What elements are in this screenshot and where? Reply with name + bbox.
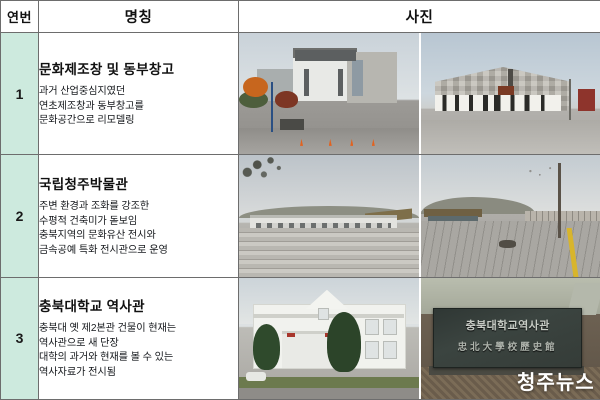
photo-museum-walkway	[421, 155, 600, 276]
document-page: 연번 명칭 사진 1 문화제조창 및 동부창고 과거 산업중심지였던 연초제조창…	[0, 0, 600, 400]
row-name-cell-1: 문화제조창 및 동부창고 과거 산업중심지였던 연초제조창과 동부창고를 문화공…	[39, 33, 239, 155]
window	[365, 341, 380, 359]
table-row: 1 문화제조창 및 동부창고 과거 산업중심지였던 연초제조창과 동부창고를 문…	[1, 33, 600, 155]
photo-cheongju-museum	[239, 155, 419, 276]
row-name-cell-2: 국립청주박물관 주변 환경과 조화를 강조한 수평적 건축미가 돋보임 충북지역…	[39, 155, 239, 277]
facility-table: 연번 명칭 사진 1 문화제조창 및 동부창고 과거 산업중심지였던 연초제조창…	[0, 0, 600, 400]
photo-pair-2	[239, 155, 600, 276]
red-side-structure	[578, 89, 594, 111]
window-strip	[352, 60, 363, 96]
plaza-ground	[421, 120, 600, 154]
light-pole	[271, 82, 273, 133]
stone-sign-plaque: 충북대학교역사관 忠北大學校歷史館	[433, 308, 582, 368]
facility-title-2: 국립청주박물관	[39, 177, 238, 193]
facility-desc-1: 과거 산업중심지였던 연초제조창과 동부창고를 문화공간으로 리모델링	[39, 85, 238, 128]
row-index-1: 1	[1, 33, 39, 155]
row-index-3: 3	[1, 277, 39, 399]
parked-car	[246, 372, 266, 380]
tree-branches-foreground	[239, 155, 322, 208]
parked-truck	[280, 119, 303, 130]
path-stone	[499, 240, 515, 247]
utility-pole	[569, 79, 571, 120]
red-banner	[287, 333, 294, 337]
facade-line-b	[338, 69, 343, 96]
photo-munhwa-jejochang	[239, 33, 419, 154]
facility-desc-2: 주변 환경과 조화를 강조한 수평적 건축미가 돋보임 충북지역의 문화유산 전…	[39, 200, 238, 258]
front-road	[239, 388, 419, 399]
photo-cbnu-stone-sign: 충북대학교역사관 忠北大學校歷史館 청주뉴스	[421, 278, 600, 399]
conical-tree-left	[253, 324, 280, 370]
table-row: 2 국립청주박물관 주변 환경과 조화를 강조한 수평적 건축미가 돋보임 충북…	[1, 155, 600, 277]
gable-slit-window	[508, 69, 512, 86]
photo-dongbu-changgo	[421, 33, 600, 154]
table-header-row: 연번 명칭 사진	[1, 1, 600, 33]
window	[383, 319, 398, 336]
tree-red-maple	[275, 91, 298, 108]
bare-tree-branches	[521, 160, 568, 196]
window	[383, 341, 398, 359]
table-row: 3 충북대학교 역사관 충북대 옛 제2본관 건물이 현재는 역사관으로 새 단…	[1, 277, 600, 399]
sign-text-korean: 충북대학교역사관	[434, 317, 581, 333]
sign-text-hanja: 忠北大學校歷史館	[434, 339, 581, 353]
column-header-photo: 사진	[239, 1, 600, 33]
row-photo-cell-3: 충북대학교역사관 忠北大學校歷史館 청주뉴스	[239, 277, 600, 399]
facility-title-3: 충북대학교 역사관	[39, 299, 238, 315]
photo-cbnu-history-hall	[239, 278, 419, 399]
photo-pair-1	[239, 33, 600, 154]
conical-tree-center	[327, 312, 361, 373]
row-photo-cell-1	[239, 33, 600, 155]
row-index-2: 2	[1, 155, 39, 277]
facility-title-1: 문화제조창 및 동부창고	[39, 62, 238, 78]
graffiti-lettering	[435, 95, 561, 111]
stone-steps	[239, 228, 419, 277]
parking-lot	[239, 128, 419, 155]
tree-autumn-orange	[243, 77, 268, 98]
facade-line-a	[304, 69, 309, 96]
window	[365, 319, 380, 336]
gable-window	[318, 308, 329, 320]
column-header-name: 명칭	[39, 1, 239, 33]
row-photo-cell-2	[239, 155, 600, 277]
facility-desc-3: 충북대 옛 제2본관 건물이 현재는 역사관으로 새 단장 대학의 과거와 현재…	[39, 322, 238, 380]
roof-band	[295, 50, 356, 61]
row-name-cell-3: 충북대학교 역사관 충북대 옛 제2본관 건물이 현재는 역사관으로 새 단장 …	[39, 277, 239, 399]
photo-pair-3: 충북대학교역사관 忠北大學校歷史館 청주뉴스	[239, 278, 600, 399]
column-header-no: 연번	[1, 1, 39, 33]
